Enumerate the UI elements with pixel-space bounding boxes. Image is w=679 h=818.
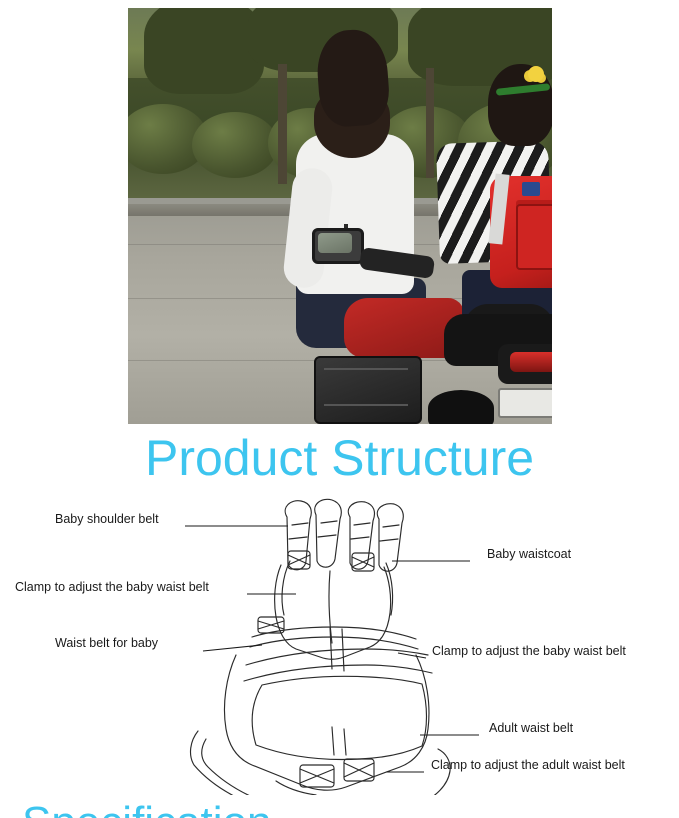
photo-tree-trunk <box>426 68 434 178</box>
motorcycle-license-plate <box>498 388 552 418</box>
label-baby-waistcoat: Baby waistcoat <box>487 547 571 561</box>
label-clamp-baby-waist-belt-left: Clamp to adjust the baby waist belt <box>15 580 209 594</box>
label-clamp-baby-waist-belt-right: Clamp to adjust the baby waist belt <box>432 644 626 658</box>
product-photo <box>128 8 552 424</box>
motorcycle-side-case-left <box>314 356 422 424</box>
motorcycle-tail-light <box>510 352 552 372</box>
page: Product Structure <box>0 0 679 818</box>
section-title: Product Structure <box>0 427 679 489</box>
photo-bush <box>192 112 278 178</box>
label-waist-belt-for-baby: Waist belt for baby <box>55 636 158 650</box>
motorcycle-wheel <box>428 390 494 424</box>
photo-tree <box>144 8 264 94</box>
next-section-title: Specification <box>22 800 442 818</box>
label-clamp-adult-waist-belt: Clamp to adjust the adult waist belt <box>431 758 625 772</box>
photo-tree-trunk <box>278 64 287 184</box>
product-structure-diagram: Baby shoulder belt Clamp to adjust the b… <box>0 495 679 795</box>
vest-logo <box>522 182 540 196</box>
child-hair-flower <box>528 66 544 82</box>
photo-scene <box>128 8 552 424</box>
label-baby-shoulder-belt: Baby shoulder belt <box>55 512 159 526</box>
case-line <box>324 404 408 406</box>
vest-pocket <box>516 204 552 270</box>
motorcycle-mirror-glass <box>318 233 352 253</box>
case-line <box>324 368 408 370</box>
label-adult-waist-belt: Adult waist belt <box>489 721 573 735</box>
